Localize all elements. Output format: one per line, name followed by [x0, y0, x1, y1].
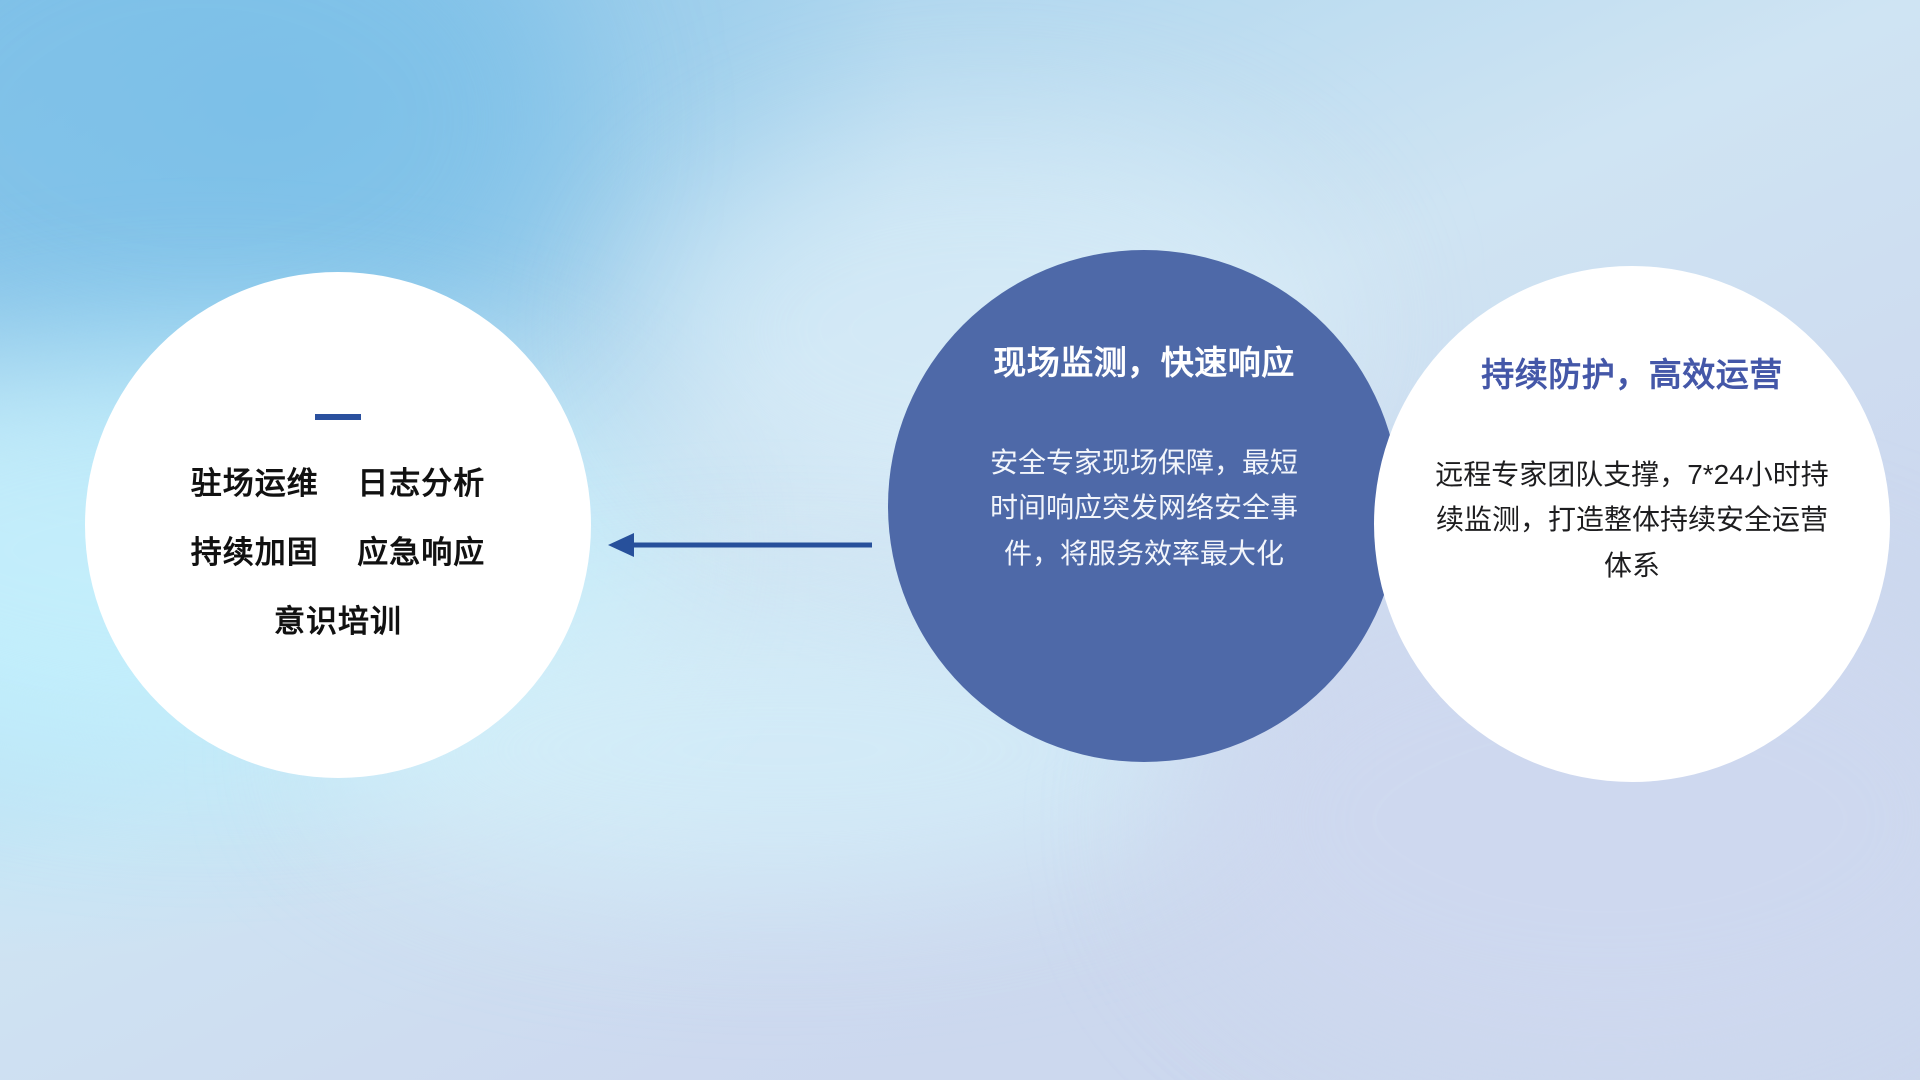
slide-canvas: 驻场运维 日志分析 持续加固 应急响应 意识培训 现场监测，快速响应 安全专家现… [0, 0, 1920, 1080]
left-circle-line-3: 意识培训 [274, 606, 402, 637]
flow-arrow-icon [600, 520, 880, 570]
right-circle-title: 持续防护，高效运营 [1481, 348, 1783, 396]
middle-circle-title: 现场监测，快速响应 [993, 336, 1295, 384]
right-circle-body: 远程专家团队支撑，7*24小时持续监测，打造整体持续安全运营体系 [1430, 452, 1834, 588]
left-circle-line-2: 持续加固 应急响应 [191, 537, 485, 568]
divider-dash [315, 414, 361, 420]
middle-onsite-circle: 现场监测，快速响应 安全专家现场保障，最短时间响应突发网络安全事件，将服务效率最… [888, 250, 1400, 762]
middle-circle-body: 安全专家现场保障，最短时间响应突发网络安全事件，将服务效率最大化 [989, 440, 1299, 576]
right-operations-circle: 持续防护，高效运营 远程专家团队支撑，7*24小时持续监测，打造整体持续安全运营… [1374, 266, 1890, 782]
left-circle-line-1: 驻场运维 日志分析 [191, 468, 485, 499]
left-capability-circle: 驻场运维 日志分析 持续加固 应急响应 意识培训 [85, 272, 591, 778]
